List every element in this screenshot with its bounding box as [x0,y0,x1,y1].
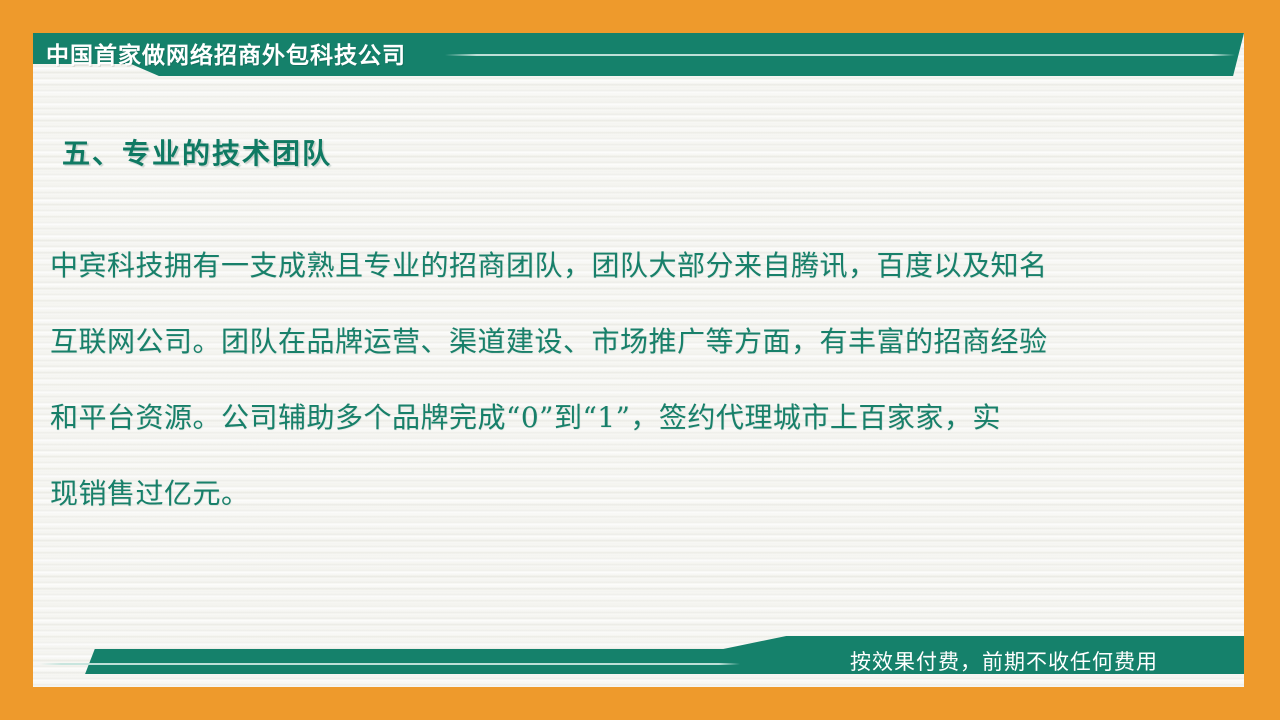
slide-title: 五、专业的技术团队 [62,132,332,172]
footer-tagline-text: 按效果付费，前期不收任何费用 [850,646,1158,676]
header-banner-text: 中国首家做网络招商外包科技公司 [46,36,406,70]
footer-divider-line [40,663,740,665]
body-line-1: 中宾科技拥有一支成熟且专业的招商团队，团队大部分来自腾讯，百度以及知名 [50,228,1190,304]
slide-body-paragraph: 中宾科技拥有一支成熟且专业的招商团队，团队大部分来自腾讯，百度以及知名 互联网公… [50,228,1190,532]
header-divider-line [445,54,1235,56]
body-line-2: 互联网公司。团队在品牌运营、渠道建设、市场推广等方面，有丰富的招商经验 [50,304,1190,380]
body-line-4: 现销售过亿元。 [50,456,1190,532]
presentation-slide: 中国首家做网络招商外包科技公司 五、专业的技术团队 中宾科技拥有一支成熟且专业的… [0,0,1280,720]
body-line-3: 和平台资源。公司辅助多个品牌完成“0”到“1”，签约代理城市上百家家，实 [50,380,1190,456]
